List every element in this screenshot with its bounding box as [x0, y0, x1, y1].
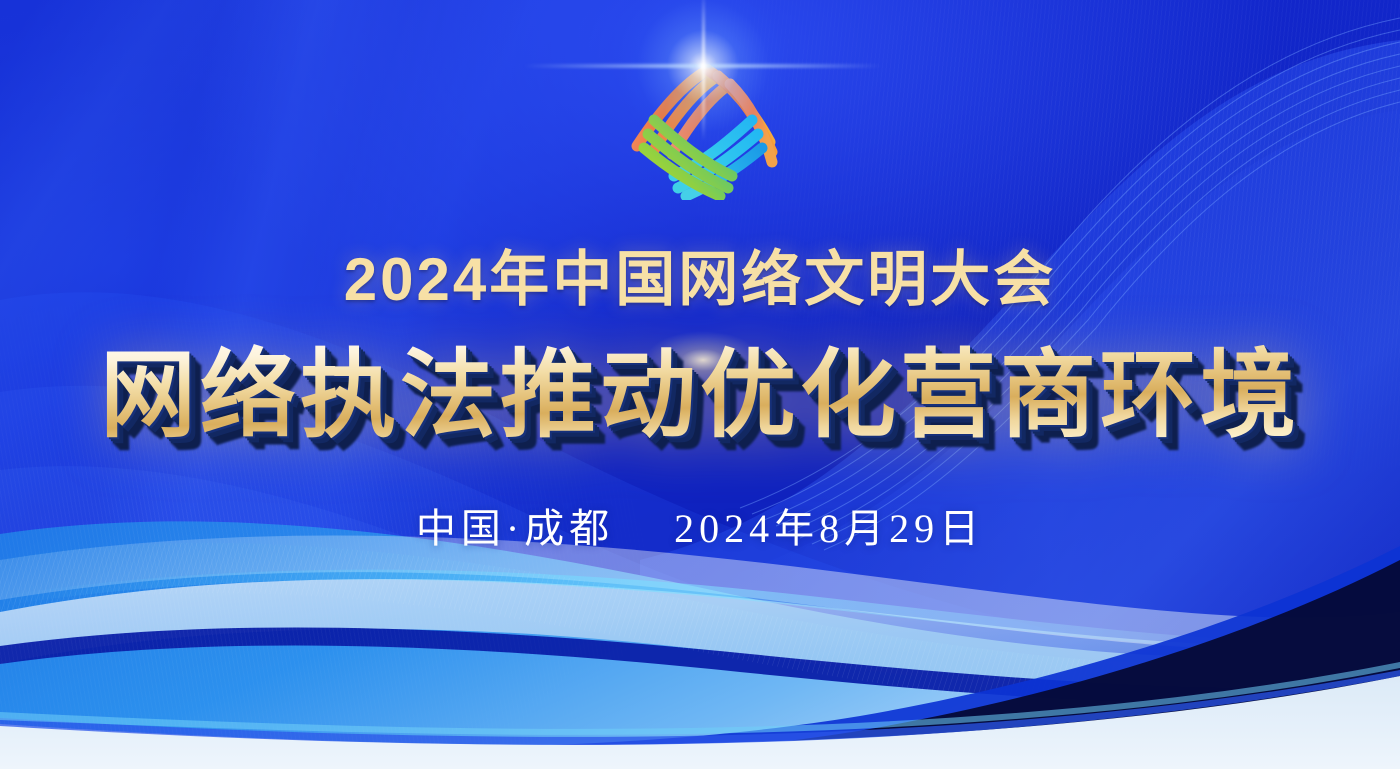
- wave-hatch-texture: [0, 543, 1400, 716]
- wave-pale-band: [0, 579, 1400, 704]
- wave-bottom-cyan-line: [0, 662, 1400, 735]
- wave-right-blue-arc: [200, 546, 1400, 769]
- wave-cyan-streak: [0, 570, 1400, 652]
- event-location-and-date: 中国·成都 2024年8月29日: [0, 496, 1400, 554]
- lens-flare-vertical-streak: [702, 0, 705, 141]
- wave-navy-stripe: [0, 627, 1400, 704]
- conference-banner: 2024年中国网络文明大会 网络执法推动优化营商环境 中国·成都 2024年8月…: [0, 0, 1400, 769]
- headline-slogan: 网络执法推动优化营商环境: [100, 344, 1300, 448]
- headline-container: 网络执法推动优化营商环境: [0, 344, 1400, 456]
- wave-right-navy-edge: [204, 560, 1400, 769]
- wave-cyan-sheet: [0, 521, 1400, 769]
- wave-deep-blue: [0, 543, 1400, 769]
- conference-title: 2024年中国网络文明大会: [0, 231, 1400, 318]
- event-location: 中国·成都: [416, 506, 614, 551]
- wave-bottom-thin-line: [0, 670, 1400, 745]
- event-date: 2024年8月29日: [674, 506, 984, 551]
- wave-bottom-ice-strip: [0, 676, 1400, 769]
